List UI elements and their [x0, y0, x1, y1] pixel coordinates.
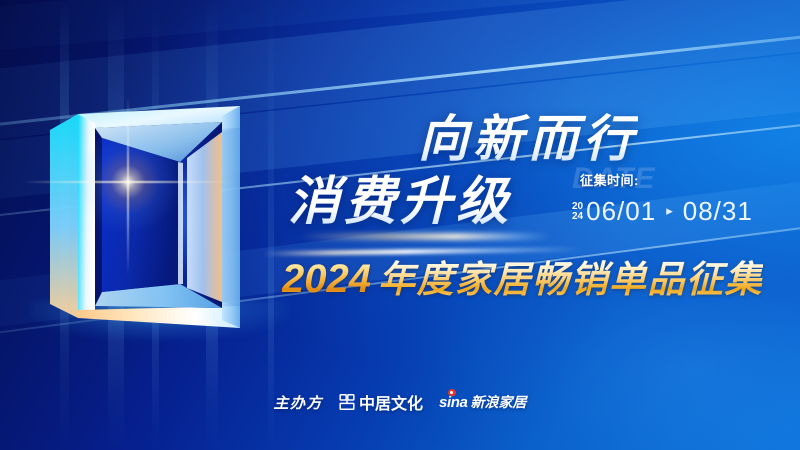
date-label: 征集时间: — [580, 173, 639, 189]
promo-banner: 向新而行 消费升级 DATE 征集时间: 20 24 06/01 ▸ 08/31… — [0, 0, 800, 450]
date-value-row: 20 24 06/01 ▸ 08/31 — [572, 196, 753, 226]
date-separator-icon: ▸ — [666, 196, 673, 226]
date-year-stacked: 20 24 — [572, 202, 583, 222]
footer: 主办方 中居文化 sina 新浪家居 — [0, 390, 800, 414]
light-band-top — [0, 0, 800, 64]
sponsor-logo-sina[interactable]: sina 新浪家居 — [439, 392, 526, 412]
date-end: 08/31 — [683, 196, 753, 226]
corner-glow — [440, 210, 800, 450]
date-year-top: 20 — [572, 202, 583, 212]
door-portal-graphic — [44, 92, 252, 342]
sponsor-logo-zhongju[interactable]: 中居文化 — [339, 390, 423, 414]
subtitle-row: 2024 年度家居畅销单品征集 — [282, 256, 763, 302]
sina-eye-icon — [448, 389, 456, 396]
zhongju-logo-icon — [339, 394, 355, 410]
sponsor-sina-name: 新浪家居 — [470, 392, 526, 412]
subtitle-text: 年度家居畅销单品征集 — [378, 257, 763, 303]
date-block: DATE 征集时间: 20 24 06/01 ▸ 08/31 — [572, 170, 787, 238]
headline-line-1: 向新而行 — [418, 110, 638, 168]
subtitle-year: 2024 — [282, 256, 371, 302]
headline-underglow — [300, 233, 550, 240]
date-year-bottom: 24 — [572, 212, 583, 222]
footer-organizer-label: 主办方 — [274, 392, 324, 413]
sponsor-zhongju-name: 中居文化 — [359, 390, 423, 414]
subtitle-shine — [262, 247, 582, 256]
date-start: 06/01 — [586, 196, 656, 226]
headline-line-2: 消费升级 — [288, 172, 512, 232]
vertical-streak-5 — [268, 0, 274, 450]
sina-wordmark: sina — [439, 394, 467, 411]
